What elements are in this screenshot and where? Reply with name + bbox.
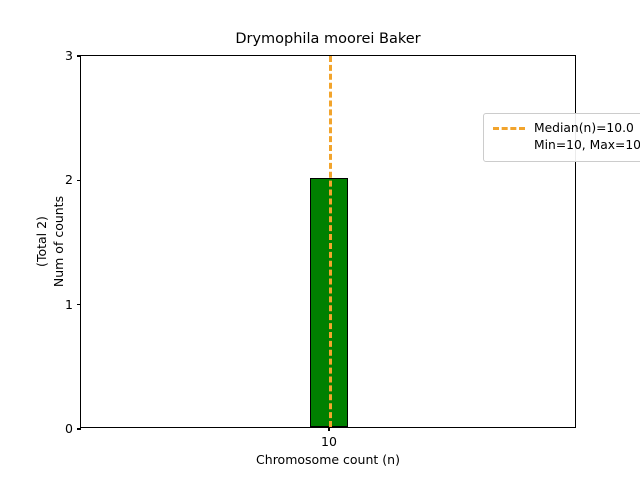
plot-inner — [81, 56, 575, 427]
legend-entry-median: Median(n)=10.0 — [493, 120, 640, 137]
y-axis-label: (Total 2) Num of counts — [30, 55, 70, 428]
chart-figure: Drymophila moorei Baker 0 1 2 3 10 — [0, 0, 640, 480]
y-tick-mark — [77, 180, 81, 181]
y-tick-mark — [77, 55, 81, 56]
chart-title: Drymophila moorei Baker — [80, 30, 576, 48]
legend-sublabel: Min=10, Max=10 — [493, 137, 640, 154]
dashed-line-icon — [493, 127, 525, 130]
plot-area: 0 1 2 3 10 Median(n)=10.0 Min=10, Max=10 — [80, 55, 576, 428]
median-line — [329, 56, 332, 427]
y-axis-label-line2: (Total 2) — [33, 216, 50, 267]
y-axis-label-line1: Num of counts — [50, 196, 67, 287]
chart-legend: Median(n)=10.0 Min=10, Max=10 — [483, 113, 640, 162]
legend-label: Median(n)=10.0 — [534, 120, 634, 137]
x-tick-label: 10 — [289, 433, 369, 451]
x-tick-mark — [328, 427, 329, 431]
y-tick-mark — [77, 304, 81, 305]
y-tick-mark — [77, 428, 81, 429]
x-axis-label: Chromosome count (n) — [80, 452, 576, 468]
